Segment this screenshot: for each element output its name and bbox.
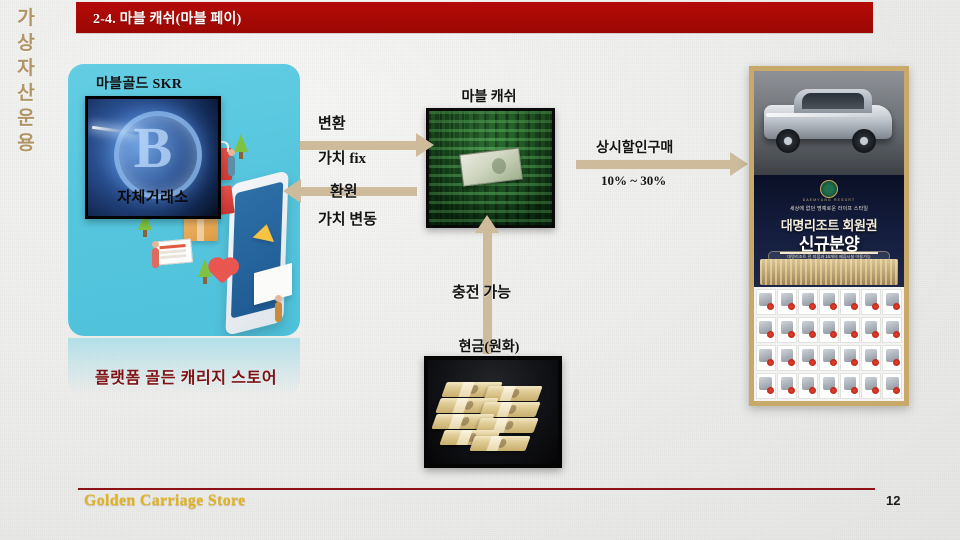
- cash-won-image: [424, 356, 562, 468]
- poster-product-cell: [861, 345, 881, 371]
- resort-building-photo: [760, 259, 898, 285]
- car-highlight: [766, 113, 886, 117]
- label-value-fluctuation: 가치 변동: [318, 208, 377, 229]
- poster-product-cell: [819, 345, 839, 371]
- marble-cash-title: 마블 캐쉬: [424, 86, 554, 106]
- page-number: 12: [886, 493, 900, 508]
- vertical-label-char: 가: [17, 6, 34, 31]
- exchange-label: 자체거래소: [88, 186, 218, 207]
- poster-car-photo: [754, 71, 904, 175]
- discount-badge-icon: [767, 303, 774, 310]
- poster-product-cell: [882, 289, 902, 315]
- discount-badge-icon: [851, 387, 858, 394]
- discount-badge-icon: [830, 387, 837, 394]
- poster-product-cell: [882, 345, 902, 371]
- person-icon: [152, 248, 159, 268]
- discount-badge-icon: [851, 303, 858, 310]
- poster-product-cell: [819, 317, 839, 343]
- poster-product-cell: [819, 289, 839, 315]
- platform-panel: 마블골드 SKR B 자체거래소: [68, 64, 300, 336]
- label-discount-range: 10% ~ 30%: [601, 173, 666, 189]
- poster-tagline: 세상에 없던 명예로운 라이프 스타일: [754, 205, 904, 212]
- poster-product-cell: [882, 373, 902, 399]
- discount-badge-icon: [788, 387, 795, 394]
- poster-product-cell: [798, 317, 818, 343]
- discount-badge-icon: [788, 303, 795, 310]
- discount-badge-icon: [893, 331, 900, 338]
- label-charge: 충전 가능: [452, 281, 511, 302]
- discount-badge-icon: [788, 359, 795, 366]
- discount-badge-icon: [767, 387, 774, 394]
- poster-product-grid: [754, 287, 904, 401]
- car-wheel: [852, 129, 876, 153]
- discount-badge-icon: [809, 359, 816, 366]
- arrow-redeem: [300, 187, 417, 196]
- money-bundle: [469, 436, 530, 451]
- poster-product-cell: [840, 317, 860, 343]
- discount-badge-icon: [872, 303, 879, 310]
- poster-product-cell: [861, 373, 881, 399]
- poster-product-cell: [777, 289, 797, 315]
- footer-brand: Golden Carriage Store: [84, 492, 246, 510]
- discount-badge-icon: [851, 359, 858, 366]
- bitcoin-symbol-icon: B: [88, 111, 218, 185]
- poster-product-cell: [777, 345, 797, 371]
- vertical-label-char: 운: [17, 106, 34, 131]
- poster-brand: DAEMYUNG RESORT: [754, 198, 904, 202]
- poster-product-cell: [861, 317, 881, 343]
- poster-product-cell: [777, 317, 797, 343]
- platform-panel-title: 마블골드 SKR: [96, 73, 182, 93]
- poster-product-cell: [840, 345, 860, 371]
- discount-badge-icon: [830, 303, 837, 310]
- tree-icon: [198, 259, 212, 277]
- discount-badge-icon: [872, 387, 879, 394]
- vertical-label-char: 자: [17, 56, 34, 81]
- discount-badge-icon: [809, 387, 816, 394]
- label-discount-purchase: 상시할인구매: [596, 137, 673, 157]
- page-title: 2-4. 마블 캐쉬(마블 페이): [93, 8, 241, 28]
- discount-badge-icon: [767, 359, 774, 366]
- poster-inner: DAEMYUNG RESORT 세상에 없던 명예로운 라이프 스타일 대명리조…: [754, 71, 904, 401]
- discount-badge-icon: [893, 387, 900, 394]
- car-window: [802, 93, 864, 109]
- discount-badge-icon: [893, 303, 900, 310]
- envelope-icon: [155, 238, 193, 265]
- poster-product-cell: [798, 345, 818, 371]
- poster-product-cell: [840, 373, 860, 399]
- car-wheel: [776, 129, 800, 153]
- marble-cash-image: [426, 108, 555, 228]
- person-icon: [228, 156, 235, 176]
- vertical-label-char: 상: [17, 31, 34, 56]
- poster-product-cell: [798, 289, 818, 315]
- discount-badge-icon: [893, 359, 900, 366]
- arrow-purchase: [576, 160, 731, 169]
- poster-product-cell: [819, 373, 839, 399]
- poster-product-cell: [756, 345, 776, 371]
- platform-caption: 플랫폼 골든 캐리지 스토어: [64, 364, 308, 388]
- vertical-label-char: 용: [17, 131, 34, 156]
- discount-badge-icon: [809, 331, 816, 338]
- label-convert: 변환: [318, 112, 346, 133]
- slide-title-bar: 2-4. 마블 캐쉬(마블 페이): [76, 2, 873, 33]
- footer-divider: [78, 488, 875, 490]
- poster-product-cell: [756, 289, 776, 315]
- resort-promo-poster: DAEMYUNG RESORT 세상에 없던 명예로운 라이프 스타일 대명리조…: [749, 66, 909, 406]
- label-redeem: 환원: [330, 180, 358, 201]
- discount-badge-icon: [851, 331, 858, 338]
- bitcoin-exchange-image: B 자체거래소: [85, 96, 221, 219]
- poster-resort-section: DAEMYUNG RESORT 세상에 없던 명예로운 라이프 스타일 대명리조…: [754, 175, 904, 287]
- slide-canvas: 2-4. 마블 캐쉬(마블 페이) 가 상 자 산 운 용: [0, 0, 960, 540]
- person-icon: [275, 302, 282, 322]
- discount-badge-icon: [809, 303, 816, 310]
- tree-icon: [234, 134, 248, 152]
- poster-product-cell: [840, 289, 860, 315]
- discount-badge-icon: [872, 359, 879, 366]
- poster-product-cell: [756, 317, 776, 343]
- poster-product-cell: [861, 289, 881, 315]
- vertical-section-label: 가 상 자 산 운 용: [8, 6, 44, 156]
- label-value-fix: 가치 fix: [318, 147, 366, 168]
- poster-product-cell: [798, 373, 818, 399]
- discount-badge-icon: [767, 331, 774, 338]
- poster-product-cell: [756, 373, 776, 399]
- vertical-label-char: 산: [17, 81, 34, 106]
- discount-badge-icon: [830, 331, 837, 338]
- poster-product-cell: [777, 373, 797, 399]
- discount-badge-icon: [788, 331, 795, 338]
- cash-won-title: 현금(원화): [424, 336, 554, 356]
- discount-badge-icon: [830, 359, 837, 366]
- resort-emblem-icon: [820, 180, 838, 198]
- poster-product-cell: [882, 317, 902, 343]
- discount-badge-icon: [872, 331, 879, 338]
